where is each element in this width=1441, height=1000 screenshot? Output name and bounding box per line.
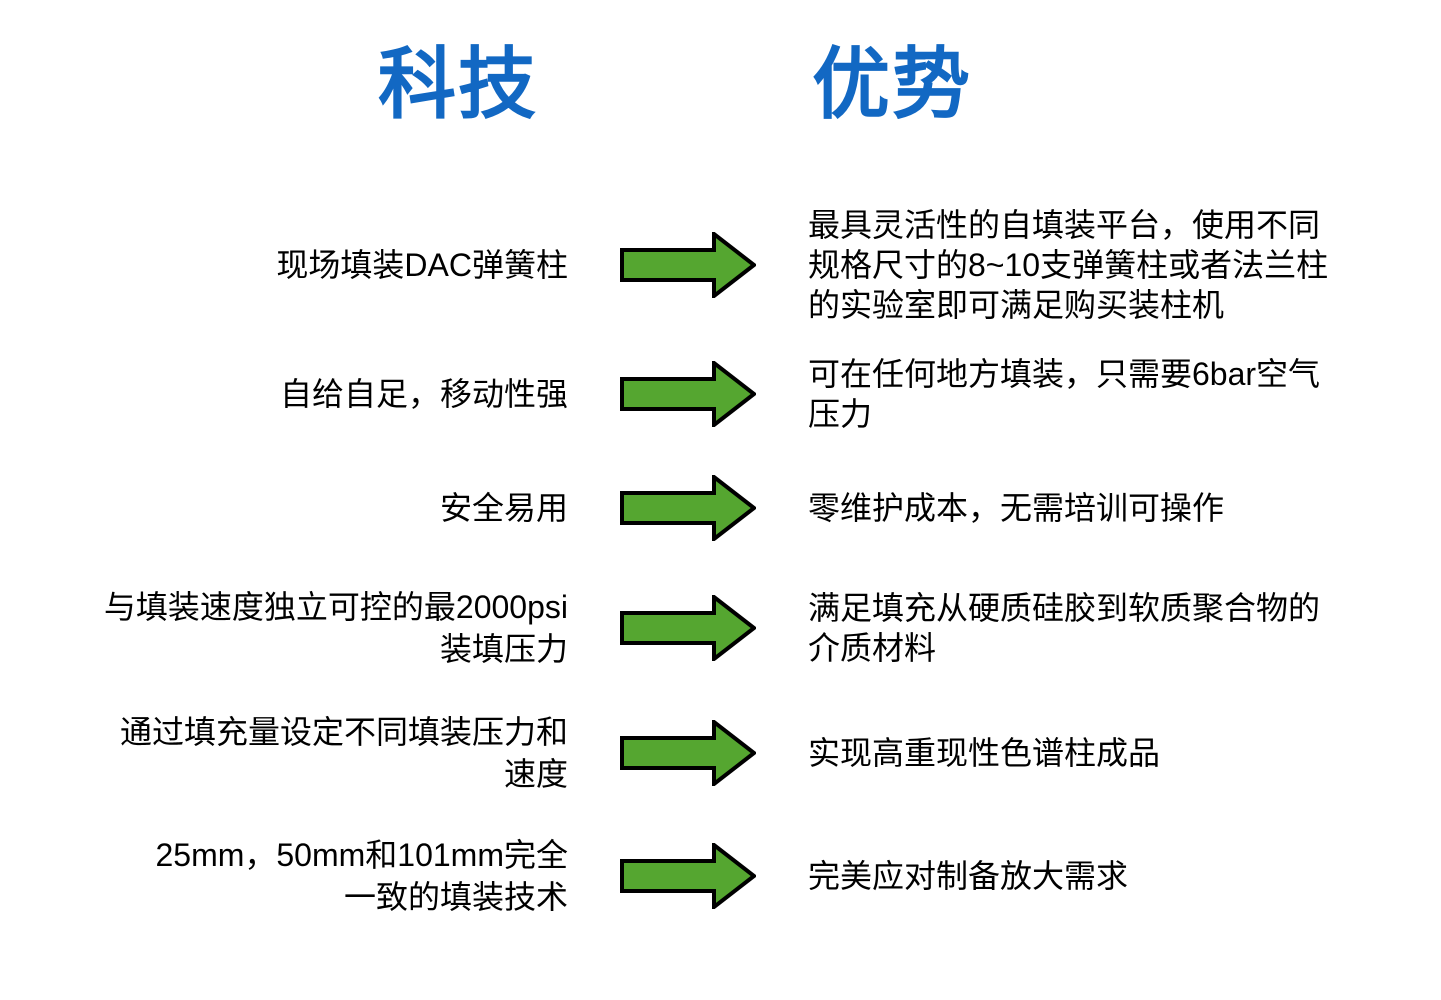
page-title-technology: 科技 [378, 34, 538, 134]
right-arrow-icon [620, 475, 756, 541]
right-arrow-icon [620, 595, 756, 661]
table-row: 通过填充量设定不同填装压力和 速度 实现高重现性色谱柱成品 [0, 693, 1441, 813]
table-row: 25mm，50mm和101mm完全 一致的填装技术 完美应对制备放大需求 [0, 813, 1441, 938]
right-arrow-icon [620, 232, 756, 298]
arrow-cell [568, 475, 808, 541]
benefit-text: 可在任何地方填装，只需要6bar空气 压力 [808, 354, 1441, 434]
feature-text: 25mm，50mm和101mm完全 一致的填装技术 [0, 834, 568, 918]
benefit-text: 实现高重现性色谱柱成品 [808, 733, 1441, 773]
arrow-cell [568, 720, 808, 786]
right-arrow-icon [620, 843, 756, 909]
feature-text: 安全易用 [0, 487, 568, 529]
table-row: 安全易用 零维护成本，无需培训可操作 [0, 453, 1441, 563]
benefit-text: 最具灵活性的自填装平台，使用不同 规格尺寸的8~10支弹簧柱或者法兰柱 的实验室… [808, 205, 1441, 325]
page-title-advantage: 优势 [812, 34, 972, 134]
arrow-cell [568, 843, 808, 909]
feature-text: 自给自足，移动性强 [0, 373, 568, 415]
right-arrow-icon [620, 361, 756, 427]
headings-row: 科技 优势 [0, 34, 1441, 144]
table-row: 与填装速度独立可控的最2000psi 装填压力 满足填充从硬质硅胶到软质聚合物的… [0, 563, 1441, 693]
arrow-cell [568, 595, 808, 661]
arrow-cell [568, 361, 808, 427]
feature-benefit-list: 现场填装DAC弹簧柱 最具灵活性的自填装平台，使用不同 规格尺寸的8~10支弹簧… [0, 195, 1441, 938]
right-arrow-icon [620, 720, 756, 786]
benefit-text: 完美应对制备放大需求 [808, 856, 1441, 896]
table-row: 自给自足，移动性强 可在任何地方填装，只需要6bar空气 压力 [0, 335, 1441, 453]
feature-text: 通过填充量设定不同填装压力和 速度 [0, 711, 568, 795]
feature-text: 现场填装DAC弹簧柱 [0, 244, 568, 286]
benefit-text: 满足填充从硬质硅胶到软质聚合物的 介质材料 [808, 588, 1441, 668]
benefit-text: 零维护成本，无需培训可操作 [808, 488, 1441, 528]
arrow-cell [568, 232, 808, 298]
table-row: 现场填装DAC弹簧柱 最具灵活性的自填装平台，使用不同 规格尺寸的8~10支弹簧… [0, 195, 1441, 335]
feature-text: 与填装速度独立可控的最2000psi 装填压力 [0, 586, 568, 670]
